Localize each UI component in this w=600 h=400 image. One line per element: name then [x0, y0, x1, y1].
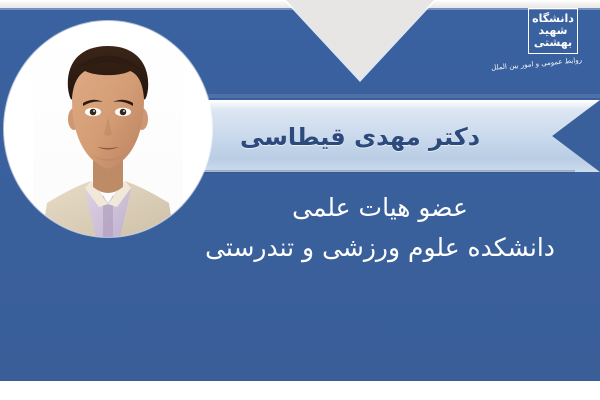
bottom-white-strip — [0, 381, 600, 400]
portrait-photo — [33, 27, 183, 237]
university-logo: دانشگاه شهید بهشتی روابط عمومی و امور بی… — [502, 4, 582, 78]
position-line-1: عضو هیات علمی — [170, 188, 590, 228]
panel-soft-band — [150, 94, 600, 98]
logo-line-3: بهشتی — [534, 37, 572, 49]
position-block: عضو هیات علمی دانشکده علوم ورزشی و تندرس… — [170, 188, 590, 268]
person-name: دکتر مهدی قیطاسی — [160, 108, 560, 166]
poster-canvas: دانشگاه شهید بهشتی روابط عمومی و امور بی… — [0, 0, 600, 400]
position-line-2: دانشکده علوم ورزشی و تندرستی — [170, 228, 590, 268]
logo-frame-box: دانشگاه شهید بهشتی — [528, 8, 578, 54]
logo-subtitle: روابط عمومی و امور بین الملل — [502, 56, 582, 72]
logo-calligraphy: دانشگاه شهید بهشتی — [529, 9, 577, 53]
